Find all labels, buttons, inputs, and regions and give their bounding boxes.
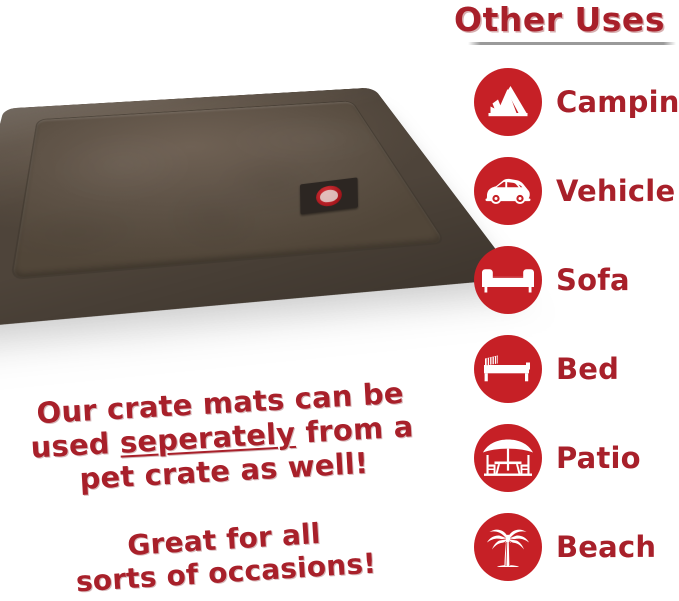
- car-icon: [474, 157, 542, 225]
- tent-icon: [474, 68, 542, 136]
- use-item-camping: Camping: [440, 57, 679, 146]
- use-label-bed: Bed: [556, 352, 619, 386]
- other-uses-panel: Other Uses Camping: [440, 0, 679, 593]
- use-label-beach: Beach: [556, 530, 656, 564]
- use-label-vehicle: Vehicle: [556, 174, 675, 208]
- use-label-patio: Patio: [556, 441, 641, 475]
- bed-icon: [474, 335, 542, 403]
- slogan-secondary: Great for all sorts of occasions!: [38, 511, 411, 600]
- use-item-beach: Beach: [440, 502, 679, 591]
- use-item-sofa: Sofa: [440, 235, 679, 324]
- use-label-sofa: Sofa: [556, 263, 630, 297]
- brand-logo-icon: [316, 184, 342, 207]
- use-item-vehicle: Vehicle: [440, 146, 679, 235]
- other-uses-list: Camping: [440, 57, 679, 591]
- use-item-bed: Bed: [440, 324, 679, 413]
- other-uses-title: Other Uses: [440, 0, 679, 40]
- palm-tree-icon: [474, 513, 542, 581]
- slogan-primary: Our crate mats can be used seperately fr…: [19, 375, 424, 500]
- patio-umbrella-icon: [474, 424, 542, 492]
- use-label-camping: Camping: [556, 85, 679, 119]
- title-divider: [468, 42, 676, 45]
- sofa-icon: [474, 246, 542, 314]
- pet-crate-mat-photo: [0, 58, 440, 298]
- use-item-patio: Patio: [440, 413, 679, 502]
- slogan-primary-line2-after: from a: [294, 410, 414, 451]
- slogan-primary-line2-before: used: [30, 426, 121, 465]
- product-image-panel: [0, 0, 440, 370]
